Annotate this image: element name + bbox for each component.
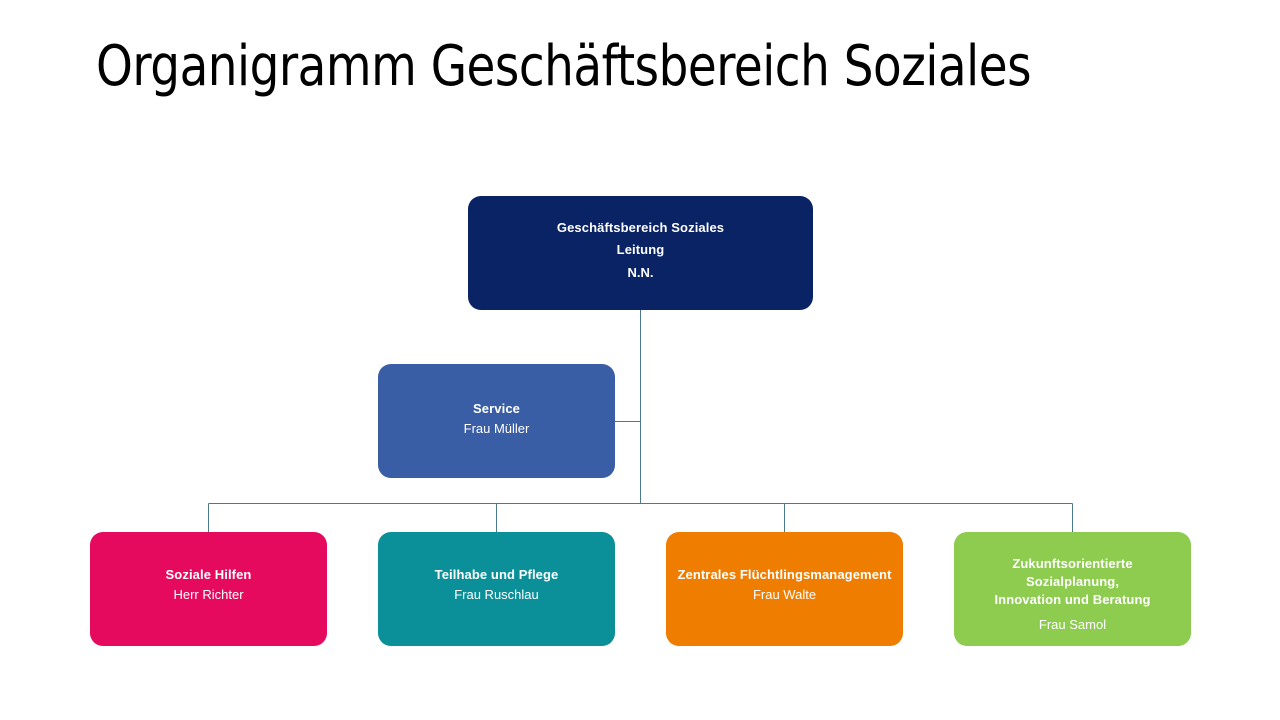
- org-node-person: N.N.: [628, 262, 654, 284]
- org-node-person: Frau Walte: [753, 585, 816, 605]
- org-node-title: Soziale Hilfen: [166, 565, 252, 585]
- org-node-title: Geschäftsbereich Soziales: [557, 217, 724, 239]
- org-node-person: Frau Ruschlau: [454, 585, 539, 605]
- org-node-person: Herr Richter: [173, 585, 243, 605]
- org-node-zentrales-fluechtlingsmanagement[interactable]: Zentrales Flüchtlingsmanagement Frau Wal…: [666, 532, 903, 646]
- page-title: Organigramm Geschäftsbereich Soziales: [96, 36, 1082, 98]
- organigramm-slide: Organigramm Geschäftsbereich Soziales Ge…: [0, 0, 1280, 720]
- org-node-title-line1: Zukunftsorientierte Sozialplanung,: [964, 555, 1181, 591]
- org-node-title: Service: [473, 399, 520, 419]
- org-node-service[interactable]: Service Frau Müller: [378, 364, 615, 478]
- org-node-teilhabe-und-pflege[interactable]: Teilhabe und Pflege Frau Ruschlau: [378, 532, 615, 646]
- org-node-soziale-hilfen[interactable]: Soziale Hilfen Herr Richter: [90, 532, 327, 646]
- org-node-title: Zentrales Flüchtlingsmanagement: [677, 565, 891, 585]
- org-node-geschaeftsbereich-soziales[interactable]: Geschäftsbereich Soziales Leitung N.N.: [468, 196, 813, 310]
- org-node-zukunftsorientierte-sozialplanung[interactable]: Zukunftsorientierte Sozialplanung, Innov…: [954, 532, 1191, 646]
- org-node-title-line2: Innovation und Beratung: [994, 591, 1150, 609]
- org-node-subtitle: Leitung: [617, 239, 665, 261]
- org-node-person: Frau Müller: [464, 419, 530, 439]
- org-node-title: Teilhabe und Pflege: [435, 565, 559, 585]
- org-node-person: Frau Samol: [1039, 615, 1106, 635]
